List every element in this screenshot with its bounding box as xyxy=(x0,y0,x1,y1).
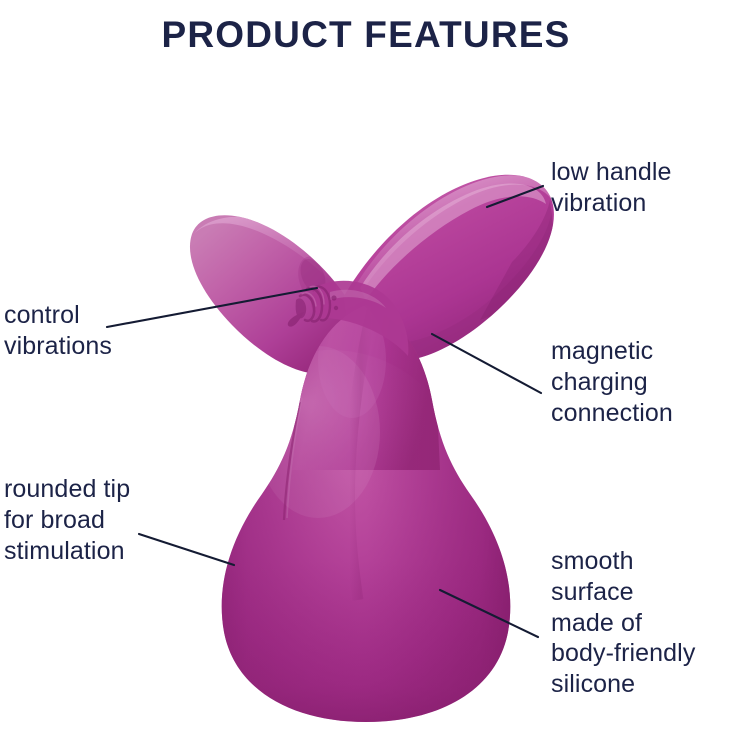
callout-magnetic-charging-connection: magnetic charging connection xyxy=(551,336,673,428)
product-features-infographic: PRODUCT FEATURES xyxy=(0,0,732,732)
product-body xyxy=(200,290,530,732)
callout-smooth-surface-silicone: smooth surface made of body-friendly sil… xyxy=(551,546,695,700)
callout-control-vibrations: control vibrations xyxy=(4,300,112,362)
callout-rounded-tip: rounded tip for broad stimulation xyxy=(4,474,130,566)
callout-low-handle-vibration: low handle vibration xyxy=(551,157,672,219)
